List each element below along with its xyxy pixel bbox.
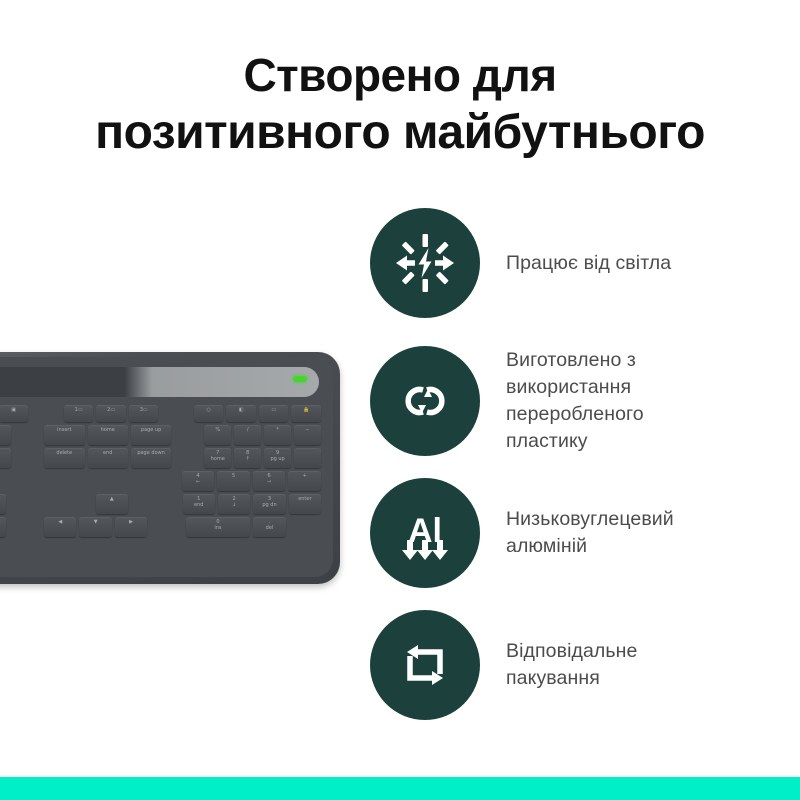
page-title: Створено для позитивного майбутнього	[0, 47, 800, 161]
feature-label-line: пластику	[506, 430, 588, 452]
key-row: )0 _- += backspace insert home page up %…	[0, 425, 321, 445]
keyboard-inner-deck: logi ◀◀ ▶ ▶▶ ▣ 1▭ 2▭ 3▭ ○	[0, 357, 333, 577]
key: 9pg up	[264, 448, 291, 468]
key-spacer	[146, 471, 179, 491]
key-delete: delete	[44, 448, 84, 468]
key-opt: opt | ⌥	[0, 517, 6, 537]
feature-item-low-carbon-aluminium: Al Низьковуглецевий алюміній	[370, 478, 800, 588]
key-shift: shift	[0, 494, 6, 514]
feature-label-line: Низьковуглецевий	[506, 508, 674, 530]
key-spacer	[31, 405, 61, 422]
key: 4←	[182, 471, 215, 491]
bottom-accent-bar	[0, 777, 800, 800]
key-spacer	[9, 517, 41, 537]
key: 3▭	[129, 405, 159, 422]
key: 2▭	[96, 405, 126, 422]
feature-icon-badge	[370, 208, 480, 318]
key: 2↓	[218, 494, 250, 514]
key-spacer	[289, 517, 321, 537]
key: ◧	[226, 405, 256, 422]
key: *	[264, 425, 291, 445]
key-zero: 0ins	[186, 517, 251, 537]
key: ○	[194, 405, 224, 422]
key-spacer	[45, 471, 143, 491]
key: 7home	[204, 448, 231, 468]
key-spacer	[14, 448, 41, 468]
key-enter: enter	[0, 448, 11, 468]
feature-icon-badge	[370, 610, 480, 720]
feature-label: Низьковуглецевий алюміній	[506, 506, 674, 560]
key-spacer	[150, 517, 182, 537]
key-arrow-up: ▲	[96, 494, 128, 514]
key-spacer	[14, 425, 41, 445]
key-row: ◀◀ ▶ ▶▶ ▣ 1▭ 2▭ 3▭ ○ ◧ ▭ 🔒	[0, 405, 321, 422]
key-end: end	[88, 448, 128, 468]
key-spacer	[9, 494, 41, 514]
feature-item-solar: Працює від світла	[370, 208, 800, 318]
feature-icon-badge: Al	[370, 478, 480, 588]
key-spacer	[44, 494, 93, 514]
key: 3pg dn	[253, 494, 285, 514]
low-carbon-aluminium-icon: Al	[392, 500, 458, 566]
product-image-keyboard: logi ◀◀ ▶ ▶▶ ▣ 1▭ 2▭ 3▭ ○	[0, 352, 340, 584]
feature-label-line: використання	[506, 376, 631, 398]
feature-list: Працює від світла Виготовлено з використ…	[370, 208, 800, 748]
headline-line-2: позитивного майбутнього	[0, 104, 800, 161]
key-arrow-left: ◀	[44, 517, 76, 537]
key: ▣	[0, 405, 28, 422]
key: /	[234, 425, 261, 445]
key: 8↑	[234, 448, 261, 468]
key: 6→	[253, 471, 286, 491]
product-feature-panel: Створено для позитивного майбутнього log…	[0, 0, 800, 800]
headline-line-1: Створено для	[243, 49, 556, 101]
key: 1end	[183, 494, 215, 514]
solar-light-energy-icon	[393, 231, 457, 295]
key-pagedown: page down	[131, 448, 171, 468]
feature-item-responsible-packaging: Відповідальне пакування	[370, 610, 800, 720]
key-backspace: backspace	[0, 425, 11, 445]
key-pageup: page up	[131, 425, 171, 445]
feature-label-line: Відповідальне	[506, 640, 638, 662]
key-spacer	[174, 425, 201, 445]
keyboard-body: logi ◀◀ ▶ ▶▶ ▣ 1▭ 2▭ 3▭ ○	[0, 352, 340, 584]
key-row: P {[ }] enter delete end page down 7home…	[0, 448, 321, 468]
key-enter-numpad: enter	[289, 494, 321, 514]
key: −	[294, 425, 321, 445]
feature-icon-badge	[370, 346, 480, 456]
key: 🔒	[291, 405, 321, 422]
feature-label: Відповідальне пакування	[506, 638, 638, 692]
key: ▭	[259, 405, 289, 422]
key-arrow-down: ▼	[79, 517, 111, 537]
key-spacer	[174, 448, 201, 468]
key-row: >. ?/ shift ▲ 1end 2↓ 3pg dn enter	[0, 494, 321, 514]
feature-label-line: переробленого	[506, 403, 644, 425]
key-arrow-right: ▶	[115, 517, 147, 537]
feature-label-line: Виготовлено з	[506, 349, 636, 371]
key-insert: insert	[44, 425, 84, 445]
status-led-indicator	[293, 376, 307, 382]
feature-label-line: алюміній	[506, 535, 587, 557]
key: 1▭	[64, 405, 94, 422]
responsible-packaging-icon	[394, 634, 456, 696]
key: %	[204, 425, 231, 445]
recycled-loop-icon	[393, 369, 457, 433]
feature-item-recycled-plastic: Виготовлено з використання переробленого…	[370, 346, 800, 456]
key-decimal: .del	[253, 517, 285, 537]
key-spacer	[0, 471, 42, 491]
feature-label: Виготовлено з використання переробленого…	[506, 347, 644, 455]
feature-label-line: пакування	[506, 667, 600, 689]
key-row: :; "' |\ 4← 5 6→ +	[0, 471, 321, 491]
key-spacer	[161, 405, 191, 422]
key-plus: +	[288, 471, 321, 491]
key: 5	[217, 471, 250, 491]
key-row: ⌘ cmd | ctrl fn opt | ⌥ ◀ ▼ ▶ 0ins .del	[0, 517, 321, 537]
feature-label: Працює від світла	[506, 250, 671, 277]
keyboard-keys: ◀◀ ▶ ▶▶ ▣ 1▭ 2▭ 3▭ ○ ◧ ▭ 🔒	[0, 405, 321, 565]
key	[294, 448, 321, 468]
keyboard-top-bar	[0, 367, 319, 397]
key-home: home	[88, 425, 128, 445]
key-spacer	[131, 494, 180, 514]
